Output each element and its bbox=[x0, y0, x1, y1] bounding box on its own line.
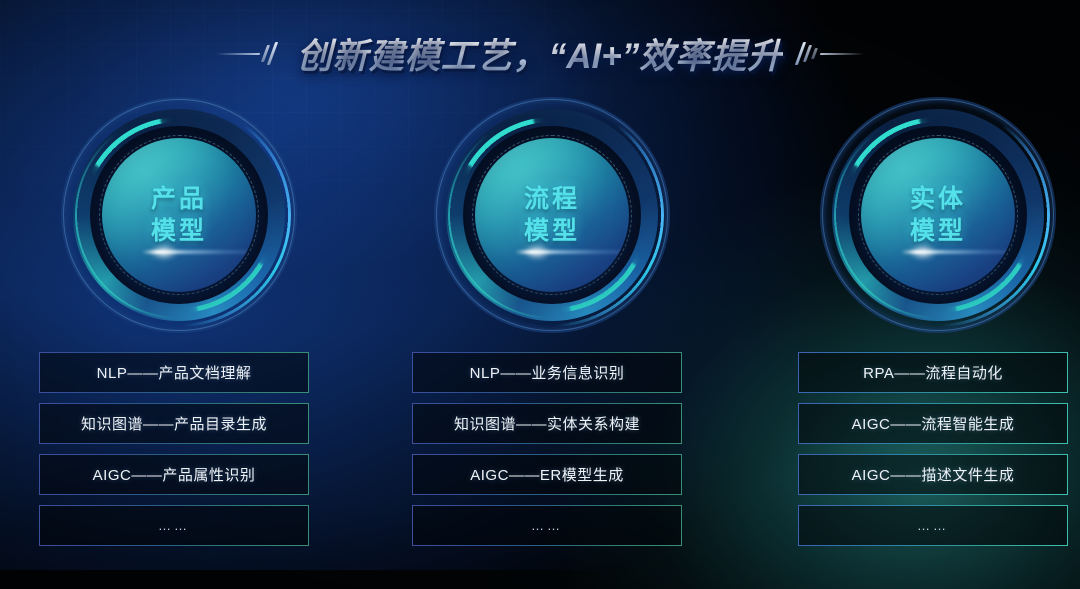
capability-column-process: NLP——业务信息识别 知识图谱——实体关系构建 AIGC——ER模型生成 …… bbox=[412, 352, 682, 556]
model-node-entity[interactable]: 实体 模型 bbox=[820, 97, 1056, 333]
title-main-text: 创新建模工艺， bbox=[297, 37, 549, 76]
capability-label: RPA——流程自动化 bbox=[863, 362, 1003, 383]
capability-item[interactable]: AIGC——ER模型生成 bbox=[412, 454, 682, 495]
capability-item-more[interactable]: …… bbox=[412, 505, 682, 546]
capability-label: AIGC——流程智能生成 bbox=[852, 413, 1015, 434]
node-label-line1: 流程 bbox=[524, 183, 580, 216]
capability-item[interactable]: AIGC——流程智能生成 bbox=[798, 403, 1068, 444]
node-disc: 流程 模型 bbox=[475, 138, 629, 292]
title-tail-text: 效率提升 bbox=[639, 37, 783, 76]
capability-label: …… bbox=[917, 518, 949, 533]
model-node-product[interactable]: 产品 模型 bbox=[61, 97, 297, 333]
capability-item[interactable]: AIGC——产品属性识别 bbox=[39, 454, 309, 495]
capability-label: AIGC——ER模型生成 bbox=[470, 464, 624, 485]
capability-label: AIGC——产品属性识别 bbox=[93, 464, 256, 485]
model-node-group: 产品 模型 流程 模型 bbox=[0, 95, 1080, 340]
node-label: 产品 模型 bbox=[151, 183, 207, 248]
node-disc: 实体 模型 bbox=[861, 138, 1015, 292]
capability-label: …… bbox=[158, 518, 190, 533]
capability-item[interactable]: NLP——产品文档理解 bbox=[39, 352, 309, 393]
slide-canvas: 创新建模工艺，“AI+”效率提升 产品 模型 bbox=[0, 0, 1080, 589]
node-label-line2: 模型 bbox=[524, 215, 580, 248]
capability-item-more[interactable]: …… bbox=[798, 505, 1068, 546]
capability-label: NLP——业务信息识别 bbox=[470, 362, 625, 383]
capability-column-product: NLP——产品文档理解 知识图谱——产品目录生成 AIGC——产品属性识别 …… bbox=[39, 352, 309, 556]
capability-label: …… bbox=[531, 518, 563, 533]
node-label: 实体 模型 bbox=[910, 183, 966, 248]
capability-column-entity: RPA——流程自动化 AIGC——流程智能生成 AIGC——描述文件生成 …… bbox=[798, 352, 1068, 556]
light-streak bbox=[901, 250, 1015, 254]
capability-label: NLP——产品文档理解 bbox=[97, 362, 252, 383]
slide-title: 创新建模工艺，“AI+”效率提升 bbox=[0, 28, 1080, 79]
title-left-slash-icon bbox=[216, 37, 281, 71]
node-label-line1: 产品 bbox=[151, 183, 207, 216]
node-label-line1: 实体 bbox=[910, 183, 966, 216]
node-label-line2: 模型 bbox=[910, 215, 966, 248]
title-highlight-text: “AI+” bbox=[549, 37, 639, 76]
node-label-line2: 模型 bbox=[151, 215, 207, 248]
capability-item[interactable]: 知识图谱——产品目录生成 bbox=[39, 403, 309, 444]
capability-label: 知识图谱——产品目录生成 bbox=[81, 413, 267, 434]
node-label: 流程 模型 bbox=[524, 183, 580, 248]
capability-item[interactable]: RPA——流程自动化 bbox=[798, 352, 1068, 393]
capability-item[interactable]: 知识图谱——实体关系构建 bbox=[412, 403, 682, 444]
capability-item[interactable]: AIGC——描述文件生成 bbox=[798, 454, 1068, 495]
node-disc: 产品 模型 bbox=[102, 138, 256, 292]
title-text: 创新建模工艺，“AI+”效率提升 bbox=[297, 28, 783, 79]
title-right-slash-icon bbox=[799, 37, 864, 71]
capability-label: AIGC——描述文件生成 bbox=[852, 464, 1015, 485]
capability-item-more[interactable]: …… bbox=[39, 505, 309, 546]
capability-item[interactable]: NLP——业务信息识别 bbox=[412, 352, 682, 393]
model-node-process[interactable]: 流程 模型 bbox=[434, 97, 670, 333]
light-streak bbox=[142, 250, 256, 254]
light-streak bbox=[515, 250, 629, 254]
capability-label: 知识图谱——实体关系构建 bbox=[454, 413, 640, 434]
